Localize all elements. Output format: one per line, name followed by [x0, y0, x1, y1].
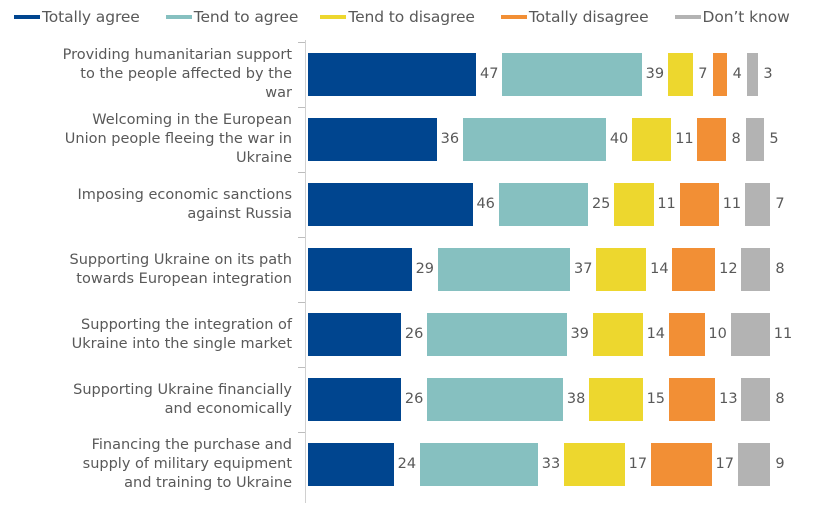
bar-segment-5[interactable] — [731, 313, 770, 356]
bar-value-label: 17 — [625, 457, 651, 472]
bar-segment-1[interactable] — [308, 378, 401, 421]
legend-item-label: Tend to disagree — [348, 8, 475, 26]
legend-item-label: Don’t know — [703, 8, 790, 26]
bar-value-label: 10 — [705, 327, 731, 342]
bar-value-label: 12 — [715, 262, 741, 277]
bar-value-label: 8 — [770, 392, 790, 407]
chart-legend: Totally agreeTend to agreeTend to disagr… — [0, 4, 827, 30]
bar-segment-2[interactable] — [427, 378, 563, 421]
bar-segment-4[interactable] — [680, 183, 719, 226]
bar-value-label: 39 — [567, 327, 593, 342]
category-label-line: Ukraine into the single market — [72, 335, 292, 354]
bar-segment-2[interactable] — [463, 118, 606, 161]
bar-value-label: 46 — [473, 197, 499, 212]
bar-value-label: 4 — [727, 67, 747, 82]
bar-value-label: 8 — [770, 262, 790, 277]
bar-value-label: 14 — [646, 262, 672, 277]
legend-item-4[interactable]: Totally disagree — [501, 8, 649, 26]
bar-segment-4[interactable] — [697, 118, 726, 161]
bar-segment-5[interactable] — [741, 248, 770, 291]
bar-value-label: 13 — [715, 392, 741, 407]
legend-line-swatch-icon — [14, 15, 40, 19]
category-label-line: Financing the purchase and — [92, 436, 292, 455]
bar-segment-3[interactable] — [593, 313, 643, 356]
bar-segment-4[interactable] — [669, 378, 716, 421]
axis-tick — [298, 367, 305, 368]
axis-tick — [298, 302, 305, 303]
category-label-line: Providing humanitarian support — [63, 46, 292, 65]
table-row: Supporting Ukraine on its pathtowards Eu… — [0, 237, 827, 302]
table-row: Supporting the integration ofUkraine int… — [0, 302, 827, 367]
bar-segment-2[interactable] — [499, 183, 589, 226]
bar-segment-1[interactable] — [308, 118, 437, 161]
bar-segment-2[interactable] — [502, 53, 642, 96]
category-label: Supporting Ukraine on its pathtowards Eu… — [0, 237, 298, 302]
bar-value-label: 15 — [643, 392, 669, 407]
bar-value-label: 8 — [726, 132, 746, 147]
table-row: Financing the purchase andsupply of mili… — [0, 432, 827, 497]
legend-line-swatch-icon — [675, 15, 701, 19]
bar-segment-1[interactable] — [308, 443, 394, 486]
bar-segment-3[interactable] — [614, 183, 653, 226]
bar-value-label: 38 — [563, 392, 589, 407]
table-row: Welcoming in the EuropeanUnion people fl… — [0, 107, 827, 172]
category-label-line: Welcoming in the European — [92, 111, 292, 130]
category-label-line: Supporting Ukraine on its path — [70, 251, 292, 270]
bar-segment-2[interactable] — [427, 313, 567, 356]
bar-value-label: 17 — [712, 457, 738, 472]
category-label: Supporting Ukraine financiallyand econom… — [0, 367, 298, 432]
bar-segment-2[interactable] — [438, 248, 570, 291]
bar-segment-4[interactable] — [669, 313, 705, 356]
bar-value-label: 9 — [770, 457, 790, 472]
legend-item-label: Totally disagree — [529, 8, 649, 26]
axis-tick — [298, 237, 305, 238]
stacked-bar: 462511117 — [308, 172, 790, 237]
bar-value-label: 26 — [401, 392, 427, 407]
bar-segment-1[interactable] — [308, 313, 401, 356]
legend-line-swatch-icon — [166, 15, 192, 19]
axis-tick — [298, 432, 305, 433]
bar-value-label: 36 — [437, 132, 463, 147]
bar-value-label: 5 — [764, 132, 784, 147]
bar-value-label: 29 — [412, 262, 438, 277]
bar-segment-4[interactable] — [651, 443, 712, 486]
bar-value-label: 40 — [606, 132, 632, 147]
legend-line-swatch-icon — [320, 15, 346, 19]
bar-segment-3[interactable] — [632, 118, 671, 161]
bar-value-label: 47 — [476, 67, 502, 82]
stacked-bar: 2639141011 — [308, 302, 796, 367]
bar-value-label: 11 — [719, 197, 745, 212]
category-label: Providing humanitarian supportto the peo… — [0, 42, 298, 107]
bar-value-label: 11 — [654, 197, 680, 212]
category-label-line: Ukraine — [236, 149, 292, 168]
bar-segment-5[interactable] — [745, 183, 770, 226]
category-label-line: to the people affected by the — [80, 65, 292, 84]
category-label-line: Union people fleeing the war in — [65, 130, 292, 149]
category-label-line: war — [265, 84, 292, 103]
bar-segment-3[interactable] — [589, 378, 643, 421]
category-label-line: against Russia — [187, 205, 292, 224]
bar-value-label: 7 — [693, 67, 713, 82]
category-label: Imposing economic sanctionsagainst Russi… — [0, 172, 298, 237]
category-label-line: and economically — [165, 400, 292, 419]
bar-segment-3[interactable] — [596, 248, 646, 291]
bar-value-label: 14 — [643, 327, 669, 342]
bar-segment-2[interactable] — [420, 443, 538, 486]
category-label-line: Supporting Ukraine financially — [73, 381, 292, 400]
bar-value-label: 26 — [401, 327, 427, 342]
legend-item-1[interactable]: Totally agree — [14, 8, 140, 26]
axis-tick — [298, 42, 305, 43]
bar-value-label: 7 — [770, 197, 790, 212]
legend-item-2[interactable]: Tend to agree — [166, 8, 299, 26]
category-label-line: towards European integration — [76, 270, 292, 289]
bar-segment-1[interactable] — [308, 53, 476, 96]
bar-segment-4[interactable] — [672, 248, 715, 291]
axis-tick — [298, 107, 305, 108]
bar-value-label: 3 — [758, 67, 778, 82]
table-row: Supporting Ukraine financiallyand econom… — [0, 367, 827, 432]
table-row: Imposing economic sanctionsagainst Russi… — [0, 172, 827, 237]
bar-segment-5[interactable] — [741, 378, 770, 421]
legend-line-swatch-icon — [501, 15, 527, 19]
bar-value-label: 37 — [570, 262, 596, 277]
bar-value-label: 24 — [394, 457, 420, 472]
stacked-bar: 293714128 — [308, 237, 790, 302]
category-label: Welcoming in the EuropeanUnion people fl… — [0, 107, 298, 172]
stacked-bar: 4739743 — [308, 42, 778, 107]
category-label-line: supply of military equipment — [83, 455, 292, 474]
category-label-line: Imposing economic sanctions — [77, 186, 292, 205]
bar-value-label: 11 — [671, 132, 697, 147]
bar-segment-5[interactable] — [747, 53, 758, 96]
bar-segment-3[interactable] — [564, 443, 625, 486]
category-label-line: and training to Ukraine — [124, 474, 292, 493]
axis-tick — [298, 172, 305, 173]
category-label-line: Supporting the integration of — [81, 316, 292, 335]
bar-segment-3[interactable] — [668, 53, 693, 96]
bar-segment-1[interactable] — [308, 183, 473, 226]
stacked-bar: 243317179 — [308, 432, 790, 497]
table-row: Providing humanitarian supportto the peo… — [0, 42, 827, 107]
stacked-bar: 263815138 — [308, 367, 790, 432]
category-label: Supporting the integration ofUkraine int… — [0, 302, 298, 367]
legend-item-3[interactable]: Tend to disagree — [320, 8, 475, 26]
bar-value-label: 11 — [770, 327, 796, 342]
category-label: Financing the purchase andsupply of mili… — [0, 432, 298, 497]
bar-value-label: 33 — [538, 457, 564, 472]
stacked-bar: 36401185 — [308, 107, 784, 172]
bar-value-label: 25 — [588, 197, 614, 212]
bar-segment-4[interactable] — [713, 53, 727, 96]
chart-plot-area: Providing humanitarian supportto the peo… — [0, 36, 827, 507]
bar-segment-5[interactable] — [738, 443, 770, 486]
bar-segment-5[interactable] — [746, 118, 764, 161]
legend-item-label: Tend to agree — [194, 8, 299, 26]
legend-item-5[interactable]: Don’t know — [675, 8, 790, 26]
bar-segment-1[interactable] — [308, 248, 412, 291]
legend-item-label: Totally agree — [42, 8, 140, 26]
bar-value-label: 39 — [642, 67, 668, 82]
